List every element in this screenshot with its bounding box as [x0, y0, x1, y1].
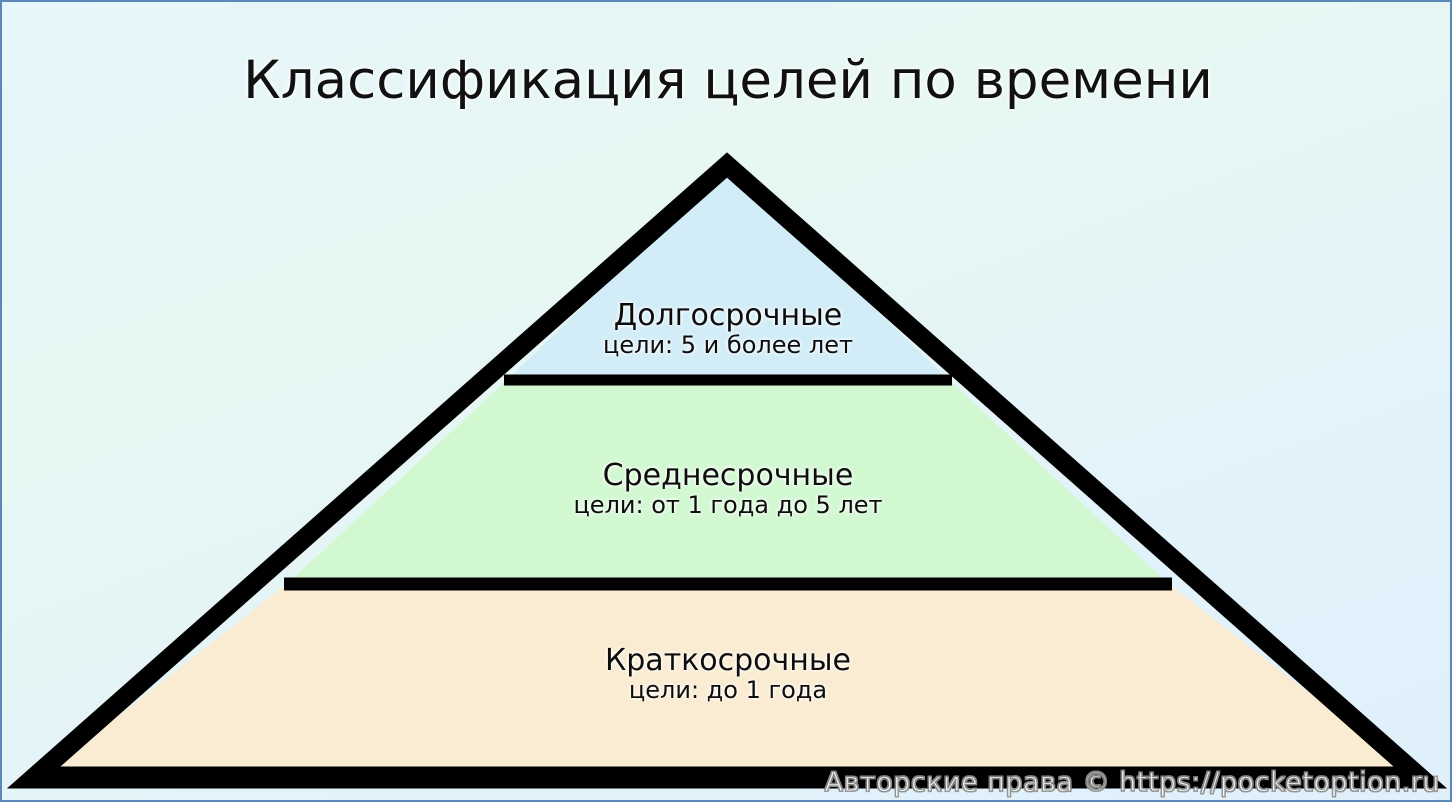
pyramid-label-long-term-title: Долгосрочные [2, 300, 1452, 332]
copyright-watermark: Авторские права © https://pocketoption.r… [825, 767, 1440, 798]
pyramid-label-long-term-subtitle: цели: 5 и более лет [2, 332, 1452, 359]
pyramid-label-short-term-subtitle: цели: до 1 года [2, 677, 1452, 704]
pyramid-label-medium-term-title: Среднесрочные [2, 460, 1452, 492]
pyramid-label-medium-term-subtitle: цели: от 1 года до 5 лет [2, 492, 1452, 519]
pyramid-label-long-term: Долгосрочные цели: 5 и более лет [2, 300, 1452, 359]
pyramid-label-medium-term: Среднесрочные цели: от 1 года до 5 лет [2, 460, 1452, 519]
pyramid-label-short-term: Краткосрочные цели: до 1 года [2, 645, 1452, 704]
slide-canvas: Классификация целей по времени Долгосроч… [0, 0, 1452, 802]
pyramid-label-short-term-title: Краткосрочные [2, 645, 1452, 677]
